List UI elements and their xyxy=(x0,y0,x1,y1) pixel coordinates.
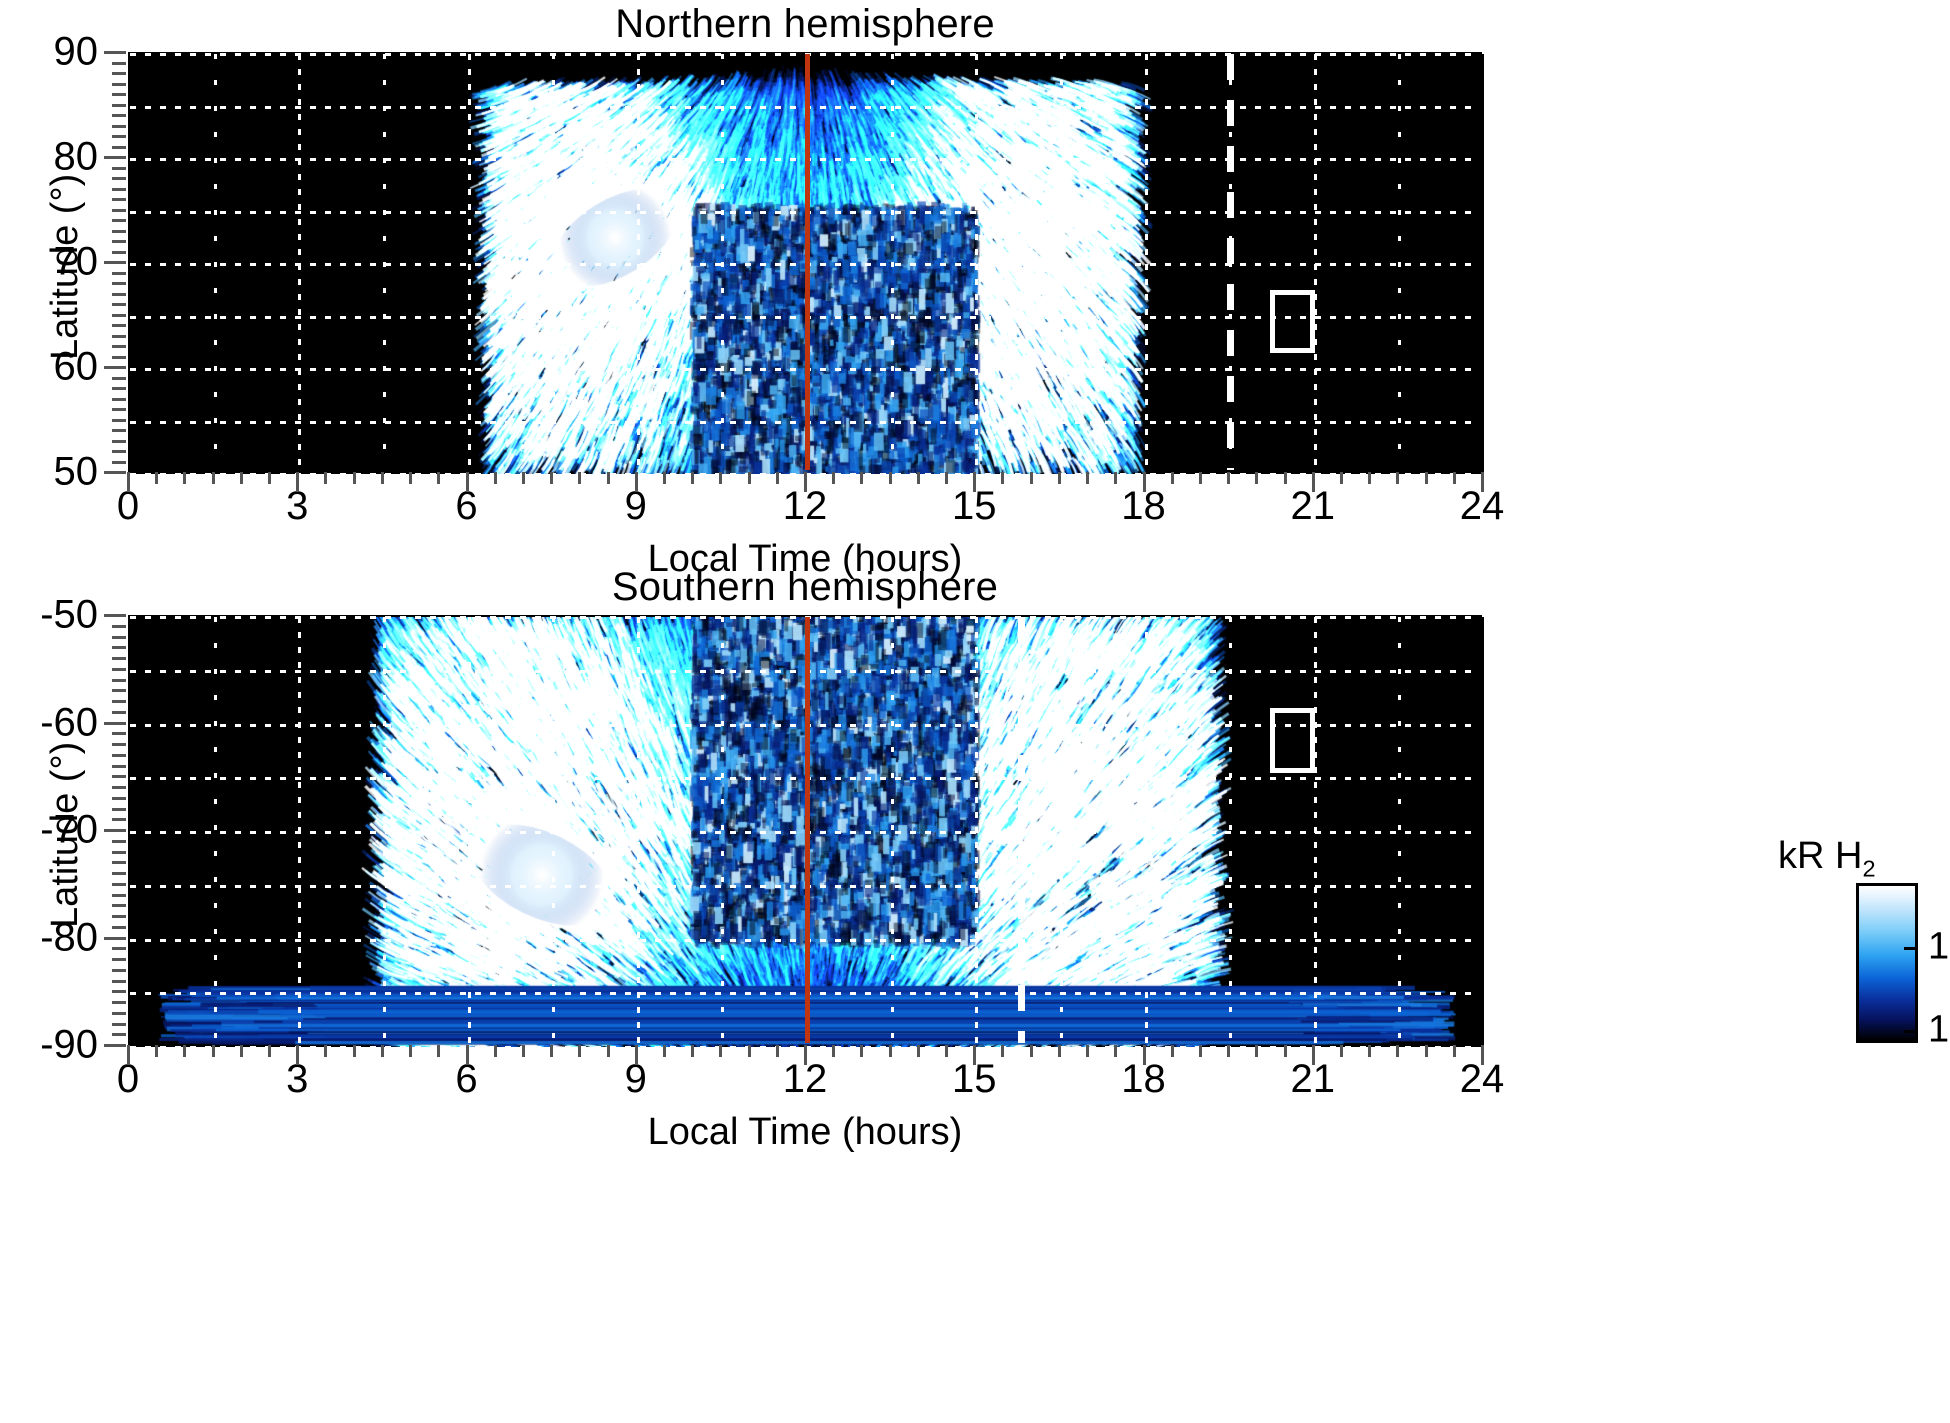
x-axis-minor-tick xyxy=(607,472,610,484)
x-axis-minor-tick xyxy=(691,1045,694,1057)
x-axis-minor-tick xyxy=(381,1045,384,1057)
x-axis-minor-tick xyxy=(832,1045,835,1057)
y-axis-minor-tick xyxy=(112,198,126,201)
x-axis-minor-tick xyxy=(1001,1045,1004,1057)
x-axis-minor-tick xyxy=(1030,1045,1033,1057)
x-axis-minor-tick xyxy=(183,1045,186,1057)
gridline-vertical xyxy=(383,54,386,470)
gridline-vertical xyxy=(214,617,217,1043)
y-axis-tick-label: 70 xyxy=(0,240,98,285)
northern-aurora-heatmap xyxy=(130,54,1484,474)
y-axis-minor-tick xyxy=(112,775,126,778)
gridline-vertical xyxy=(298,617,301,1043)
x-axis-minor-tick xyxy=(550,1045,553,1057)
y-axis-minor-tick xyxy=(112,1001,126,1004)
x-axis-major-tick xyxy=(804,1045,807,1065)
y-axis-minor-tick xyxy=(112,93,126,96)
y-axis-minor-tick xyxy=(112,83,126,86)
x-axis-minor-tick xyxy=(409,472,412,484)
y-axis-tick-label: -70 xyxy=(0,808,98,853)
y-axis-minor-tick xyxy=(112,786,126,789)
x-axis-minor-tick xyxy=(719,1045,722,1057)
colorbar-tick-1: 1 xyxy=(1928,1009,1949,1052)
x-axis-tick-label: 6 xyxy=(407,1057,527,1102)
gridline-horizontal xyxy=(130,211,1480,214)
y-axis-minor-tick xyxy=(112,926,126,929)
x-axis-tick-label: 15 xyxy=(914,484,1034,529)
gridline-horizontal xyxy=(130,724,1480,727)
y-axis-major-tick xyxy=(104,471,126,474)
y-axis-tick-label: 60 xyxy=(0,345,98,390)
gridline-vertical xyxy=(1398,54,1401,470)
x-axis-minor-tick xyxy=(268,472,271,484)
colorbar-tick-mark1 xyxy=(1904,947,1918,950)
y-axis-minor-tick xyxy=(112,765,126,768)
y-axis-major-tick xyxy=(104,829,126,832)
northern-x-axis-title: Local Time (hours) xyxy=(128,538,1482,581)
y-axis-major-tick xyxy=(104,156,126,159)
x-axis-minor-tick xyxy=(1340,472,1343,484)
x-axis-major-tick xyxy=(973,1045,976,1065)
x-axis-minor-tick xyxy=(889,1045,892,1057)
y-axis-minor-tick xyxy=(112,1023,126,1026)
y-axis-minor-tick xyxy=(112,969,126,972)
x-axis-major-tick xyxy=(127,472,130,492)
dashed-reference-line xyxy=(1018,617,1025,1043)
x-axis-minor-tick xyxy=(1199,472,1202,484)
gridline-vertical xyxy=(1314,54,1317,470)
y-axis-minor-tick xyxy=(112,636,126,639)
x-axis-minor-tick xyxy=(691,472,694,484)
y-axis-minor-tick xyxy=(112,980,126,983)
x-axis-minor-tick xyxy=(1171,1045,1174,1057)
x-axis-major-tick xyxy=(1312,1045,1315,1065)
y-axis-minor-tick xyxy=(112,230,126,233)
x-axis-minor-tick xyxy=(240,472,243,484)
x-axis-tick-label: 15 xyxy=(914,1057,1034,1102)
y-axis-minor-tick xyxy=(112,324,126,327)
gridline-vertical xyxy=(1229,617,1232,1043)
y-axis-tick-label: -80 xyxy=(0,915,98,960)
colorbar-gradient xyxy=(1856,883,1918,1043)
x-axis-minor-tick xyxy=(917,1045,920,1057)
y-axis-minor-tick xyxy=(112,303,126,306)
x-axis-tick-label: 9 xyxy=(576,1057,696,1102)
gridline-vertical xyxy=(1145,54,1148,470)
x-axis-major-tick xyxy=(296,472,299,492)
y-axis-minor-tick xyxy=(112,958,126,961)
gridline-horizontal xyxy=(130,992,1480,995)
x-axis-minor-tick xyxy=(1058,472,1061,484)
gridline-vertical xyxy=(806,617,809,1043)
x-axis-minor-tick xyxy=(1396,472,1399,484)
x-axis-tick-label: 12 xyxy=(745,484,865,529)
y-axis-minor-tick xyxy=(112,904,126,907)
x-axis-minor-tick xyxy=(1255,1045,1258,1057)
region-box-marker xyxy=(1270,290,1315,353)
colorbar-units-text: kR H xyxy=(1778,835,1862,877)
x-axis-major-tick xyxy=(466,472,469,492)
gridline-vertical xyxy=(1314,617,1317,1043)
gridline-vertical xyxy=(891,617,894,1043)
gridline-vertical xyxy=(806,54,809,470)
gridline-horizontal xyxy=(130,263,1480,266)
x-axis-minor-tick xyxy=(860,472,863,484)
y-axis-minor-tick xyxy=(112,915,126,918)
x-axis-minor-tick xyxy=(578,472,581,484)
gridline-vertical xyxy=(214,54,217,470)
y-axis-major-tick xyxy=(104,51,126,54)
y-axis-minor-tick xyxy=(112,429,126,432)
y-axis-minor-tick xyxy=(112,377,126,380)
y-axis-minor-tick xyxy=(112,387,126,390)
y-axis-minor-tick xyxy=(112,872,126,875)
x-axis-minor-tick xyxy=(1453,1045,1456,1057)
x-axis-minor-tick xyxy=(1425,472,1428,484)
southern-x-axis-title: Local Time (hours) xyxy=(128,1111,1482,1154)
gridline-vertical xyxy=(721,54,724,470)
y-axis-tick-label: 90 xyxy=(0,30,98,75)
gridline-vertical xyxy=(975,617,978,1043)
x-axis-minor-tick xyxy=(353,1045,356,1057)
gridline-vertical xyxy=(637,617,640,1043)
gridline-horizontal xyxy=(130,53,1480,56)
region-box-marker xyxy=(1270,708,1315,773)
gridline-horizontal xyxy=(130,473,1480,476)
x-axis-tick-label: 3 xyxy=(237,1057,357,1102)
x-axis-minor-tick xyxy=(522,472,525,484)
x-axis-minor-tick xyxy=(381,472,384,484)
x-axis-major-tick xyxy=(1481,1045,1484,1065)
x-axis-minor-tick xyxy=(1284,472,1287,484)
gridline-vertical xyxy=(552,54,555,470)
gridline-vertical xyxy=(1060,54,1063,470)
x-axis-minor-tick xyxy=(1368,472,1371,484)
gridline-horizontal xyxy=(130,1046,1480,1049)
dashed-reference-line xyxy=(1227,54,1234,470)
x-axis-minor-tick xyxy=(324,1045,327,1057)
y-axis-minor-tick xyxy=(112,1012,126,1015)
x-axis-minor-tick xyxy=(240,1045,243,1057)
gridline-vertical xyxy=(468,617,471,1043)
gridline-vertical xyxy=(1060,617,1063,1043)
x-axis-minor-tick xyxy=(1284,1045,1287,1057)
y-axis-minor-tick xyxy=(112,679,126,682)
x-axis-minor-tick xyxy=(607,1045,610,1057)
x-axis-tick-label: 0 xyxy=(68,1057,188,1102)
x-axis-tick-label: 12 xyxy=(745,1057,865,1102)
x-axis-minor-tick xyxy=(1086,472,1089,484)
gridline-horizontal xyxy=(130,777,1480,780)
x-axis-major-tick xyxy=(635,472,638,492)
x-axis-tick-label: 24 xyxy=(1422,1057,1542,1102)
x-axis-minor-tick xyxy=(1396,1045,1399,1057)
gridline-vertical xyxy=(552,617,555,1043)
y-axis-major-tick xyxy=(104,366,126,369)
y-axis-major-tick xyxy=(104,937,126,940)
x-axis-minor-tick xyxy=(1340,1045,1343,1057)
y-axis-minor-tick xyxy=(112,818,126,821)
x-axis-major-tick xyxy=(973,472,976,492)
gridline-vertical xyxy=(383,617,386,1043)
y-axis-minor-tick xyxy=(112,990,126,993)
x-axis-major-tick xyxy=(1143,472,1146,492)
x-axis-minor-tick xyxy=(494,1045,497,1057)
x-axis-minor-tick xyxy=(522,1045,525,1057)
y-axis-minor-tick xyxy=(112,135,126,138)
y-axis-minor-tick xyxy=(112,272,126,275)
gridline-vertical xyxy=(298,54,301,470)
gridline-horizontal xyxy=(130,368,1480,371)
northern-y-axis-title: Latitude (°) xyxy=(44,174,87,360)
y-axis-minor-tick xyxy=(112,209,126,212)
y-axis-major-tick xyxy=(104,261,126,264)
gridline-vertical xyxy=(975,54,978,470)
x-axis-minor-tick xyxy=(494,472,497,484)
x-axis-major-tick xyxy=(635,1045,638,1065)
x-axis-minor-tick xyxy=(917,472,920,484)
x-axis-minor-tick xyxy=(945,472,948,484)
gridline-horizontal xyxy=(130,885,1480,888)
x-axis-major-tick xyxy=(1143,1045,1146,1065)
y-axis-minor-tick xyxy=(112,408,126,411)
x-axis-minor-tick xyxy=(1001,472,1004,484)
northern-plot-area xyxy=(128,52,1482,472)
y-axis-minor-tick xyxy=(112,797,126,800)
x-axis-major-tick xyxy=(127,1045,130,1065)
x-axis-minor-tick xyxy=(719,472,722,484)
southern-aurora-heatmap xyxy=(130,617,1484,1047)
y-axis-minor-tick xyxy=(112,167,126,170)
y-axis-minor-tick xyxy=(112,1033,126,1036)
x-axis-minor-tick xyxy=(748,1045,751,1057)
x-axis-tick-label: 3 xyxy=(237,484,357,529)
noon-reference-line xyxy=(805,617,810,1043)
y-axis-minor-tick xyxy=(112,177,126,180)
y-axis-minor-tick xyxy=(112,700,126,703)
x-axis-minor-tick xyxy=(437,472,440,484)
y-axis-tick-label: 50 xyxy=(0,450,98,495)
gridline-horizontal xyxy=(130,421,1480,424)
x-axis-tick-label: 18 xyxy=(1084,484,1204,529)
x-axis-minor-tick xyxy=(1058,1045,1061,1057)
colorbar-tick-10: 10 xyxy=(1928,926,1950,969)
y-axis-minor-tick xyxy=(112,450,126,453)
y-axis-minor-tick xyxy=(112,732,126,735)
y-axis-minor-tick xyxy=(112,668,126,671)
x-axis-minor-tick xyxy=(437,1045,440,1057)
x-axis-minor-tick xyxy=(1368,1045,1371,1057)
x-axis-tick-label: 24 xyxy=(1422,484,1542,529)
x-axis-minor-tick xyxy=(776,1045,779,1057)
y-axis-minor-tick xyxy=(112,251,126,254)
x-axis-major-tick xyxy=(804,472,807,492)
y-axis-tick-label: 80 xyxy=(0,135,98,180)
y-axis-minor-tick xyxy=(112,808,126,811)
gridline-vertical xyxy=(637,54,640,470)
y-axis-minor-tick xyxy=(112,657,126,660)
x-axis-minor-tick xyxy=(1114,1045,1117,1057)
x-axis-major-tick xyxy=(296,1045,299,1065)
x-axis-minor-tick xyxy=(748,472,751,484)
x-axis-major-tick xyxy=(466,1045,469,1065)
northern-panel-title: Northern hemisphere xyxy=(128,2,1482,47)
y-axis-tick-label: -60 xyxy=(0,700,98,745)
x-axis-minor-tick xyxy=(1425,1045,1428,1057)
colorbar-title: kR H2 xyxy=(1778,835,1876,883)
y-axis-minor-tick xyxy=(112,104,126,107)
gridline-horizontal xyxy=(130,316,1480,319)
southern-hemisphere-panel: Southern hemisphere Local Time (hours) L… xyxy=(0,0,1950,1423)
x-axis-tick-label: 9 xyxy=(576,484,696,529)
x-axis-tick-label: 0 xyxy=(68,484,188,529)
x-axis-minor-tick xyxy=(860,1045,863,1057)
x-axis-tick-label: 21 xyxy=(1253,1057,1373,1102)
x-axis-minor-tick xyxy=(1114,472,1117,484)
colorbar-units-subscript: 2 xyxy=(1862,856,1875,882)
southern-plot-area xyxy=(128,615,1482,1045)
x-axis-minor-tick xyxy=(578,1045,581,1057)
y-axis-minor-tick xyxy=(112,440,126,443)
x-axis-tick-label: 21 xyxy=(1253,484,1373,529)
gridline-horizontal xyxy=(130,831,1480,834)
gridline-horizontal xyxy=(130,158,1480,161)
y-axis-minor-tick xyxy=(112,711,126,714)
x-axis-minor-tick xyxy=(268,1045,271,1057)
gridline-horizontal xyxy=(130,616,1480,619)
noon-reference-line xyxy=(805,54,810,470)
x-axis-major-tick xyxy=(1481,472,1484,492)
southern-y-axis-title: Latitude (°) xyxy=(44,742,87,928)
y-axis-minor-tick xyxy=(112,743,126,746)
x-axis-minor-tick xyxy=(663,1045,666,1057)
y-axis-minor-tick xyxy=(112,646,126,649)
x-axis-minor-tick xyxy=(409,1045,412,1057)
y-axis-minor-tick xyxy=(112,72,126,75)
x-axis-tick-label: 6 xyxy=(407,484,527,529)
y-axis-major-tick xyxy=(104,1044,126,1047)
gridline-vertical xyxy=(1229,54,1232,470)
x-axis-minor-tick xyxy=(1171,472,1174,484)
y-axis-minor-tick xyxy=(112,282,126,285)
gridline-horizontal xyxy=(130,670,1480,673)
gridline-vertical xyxy=(468,54,471,470)
x-axis-major-tick xyxy=(1312,472,1315,492)
y-axis-tick-label: -50 xyxy=(0,593,98,638)
gridline-vertical xyxy=(1398,617,1401,1043)
x-axis-minor-tick xyxy=(663,472,666,484)
y-axis-minor-tick xyxy=(112,840,126,843)
y-axis-minor-tick xyxy=(112,114,126,117)
x-axis-minor-tick xyxy=(1453,472,1456,484)
northern-hemisphere-panel: Northern hemisphere Local Time (hours) L… xyxy=(0,0,1950,1423)
southern-panel-title: Southern hemisphere xyxy=(128,565,1482,610)
y-axis-minor-tick xyxy=(112,861,126,864)
y-axis-minor-tick xyxy=(112,461,126,464)
y-axis-minor-tick xyxy=(112,883,126,886)
y-axis-minor-tick xyxy=(112,335,126,338)
y-axis-minor-tick xyxy=(112,314,126,317)
y-axis-minor-tick xyxy=(112,625,126,628)
y-axis-minor-tick xyxy=(112,689,126,692)
y-axis-minor-tick xyxy=(112,293,126,296)
x-axis-minor-tick xyxy=(832,472,835,484)
y-axis-major-tick xyxy=(104,614,126,617)
x-axis-minor-tick xyxy=(324,472,327,484)
x-axis-tick-label: 18 xyxy=(1084,1057,1204,1102)
x-axis-minor-tick xyxy=(945,1045,948,1057)
gridline-horizontal xyxy=(130,106,1480,109)
y-axis-minor-tick xyxy=(112,398,126,401)
y-axis-tick-label: -90 xyxy=(0,1023,98,1068)
x-axis-minor-tick xyxy=(212,1045,215,1057)
x-axis-minor-tick xyxy=(550,472,553,484)
y-axis-minor-tick xyxy=(112,146,126,149)
y-axis-minor-tick xyxy=(112,356,126,359)
y-axis-minor-tick xyxy=(112,754,126,757)
x-axis-minor-tick xyxy=(1255,472,1258,484)
gridline-horizontal xyxy=(130,939,1480,942)
x-axis-minor-tick xyxy=(155,472,158,484)
y-axis-minor-tick xyxy=(112,219,126,222)
gridline-vertical xyxy=(1145,617,1148,1043)
x-axis-minor-tick xyxy=(1227,472,1230,484)
colorbar-tick-mark2 xyxy=(1904,1030,1918,1033)
y-axis-major-tick xyxy=(104,722,126,725)
y-axis-minor-tick xyxy=(112,240,126,243)
y-axis-minor-tick xyxy=(112,894,126,897)
gridline-vertical xyxy=(891,54,894,470)
y-axis-minor-tick xyxy=(112,947,126,950)
x-axis-minor-tick xyxy=(155,1045,158,1057)
x-axis-minor-tick xyxy=(889,472,892,484)
x-axis-minor-tick xyxy=(1086,1045,1089,1057)
x-axis-minor-tick xyxy=(183,472,186,484)
y-axis-minor-tick xyxy=(112,125,126,128)
gridline-vertical xyxy=(721,617,724,1043)
x-axis-minor-tick xyxy=(1227,1045,1230,1057)
x-axis-minor-tick xyxy=(212,472,215,484)
y-axis-minor-tick xyxy=(112,345,126,348)
y-axis-minor-tick xyxy=(112,188,126,191)
y-axis-minor-tick xyxy=(112,419,126,422)
x-axis-minor-tick xyxy=(1030,472,1033,484)
y-axis-minor-tick xyxy=(112,62,126,65)
y-axis-minor-tick xyxy=(112,851,126,854)
x-axis-minor-tick xyxy=(1199,1045,1202,1057)
x-axis-minor-tick xyxy=(353,472,356,484)
x-axis-minor-tick xyxy=(776,472,779,484)
